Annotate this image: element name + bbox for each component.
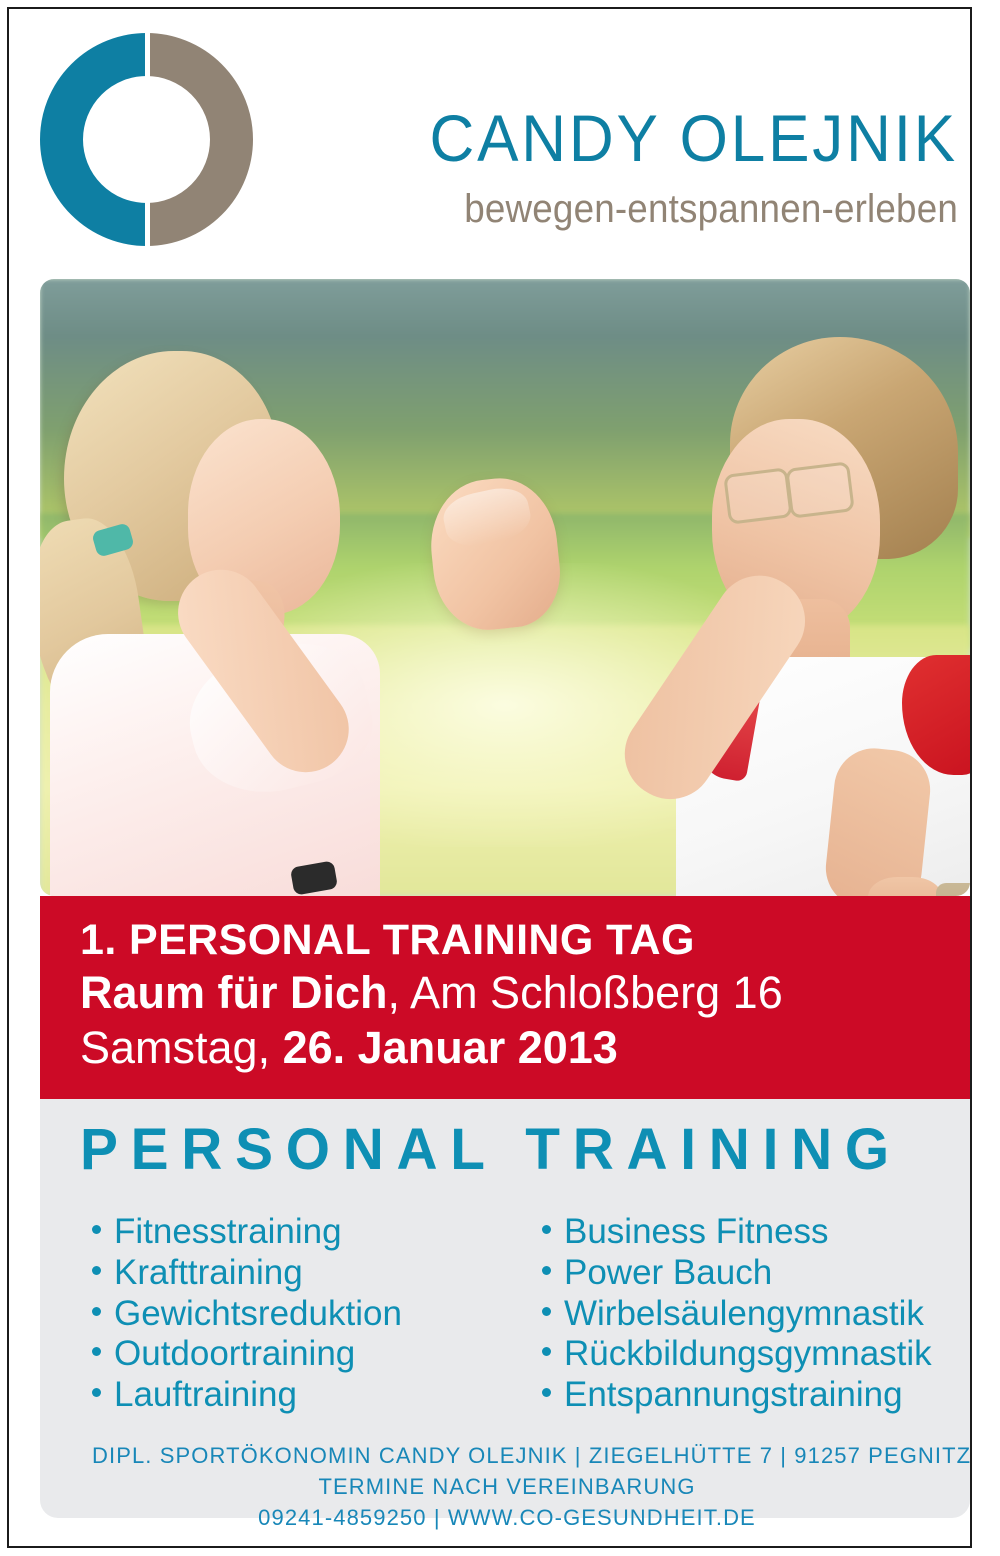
services-column-right: Business Fitness Power Bauch Wirbelsäule…	[542, 1213, 952, 1417]
list-item: Fitnesstraining	[92, 1213, 542, 1251]
service-label: Wirbelsäulengymnastik	[564, 1295, 924, 1333]
service-label: Lauftraining	[114, 1376, 297, 1414]
bullet-icon	[542, 1225, 551, 1234]
poster-header: CANDY OLEJNIK bewegen-entspannen-erleben	[9, 9, 970, 267]
bullet-icon	[92, 1307, 101, 1316]
event-weekday: Samstag,	[80, 1022, 283, 1073]
brand-name: CANDY OLEJNIK	[375, 105, 958, 171]
list-item: Rückbildungsgymnastik	[542, 1335, 952, 1373]
brand-tagline: bewegen-entspannen-erleben	[388, 189, 958, 229]
event-venue: Raum für Dich, Am Schloßberg 16	[80, 966, 970, 1021]
glasses-right-lens-icon	[785, 461, 855, 518]
service-label: Power Bauch	[564, 1254, 772, 1292]
list-item: Outdoortraining	[92, 1335, 542, 1373]
services-column-left: Fitnesstraining Krafttraining Gewichtsre…	[92, 1213, 542, 1417]
footer-address: DIPL. SPORTÖKONOMIN CANDY OLEJNIK | ZIEG…	[92, 1440, 922, 1471]
man-trousers	[936, 883, 970, 896]
service-label: Entspannungstraining	[564, 1376, 903, 1414]
service-label: Business Fitness	[564, 1213, 829, 1251]
bullet-icon	[542, 1307, 551, 1316]
brand-block: CANDY OLEJNIK bewegen-entspannen-erleben	[338, 105, 958, 229]
services-panel: PERSONAL TRAINING Fitnesstraining Kraftt…	[40, 1099, 970, 1518]
event-title: 1. PERSONAL TRAINING TAG	[80, 914, 970, 966]
service-label: Rückbildungsgymnastik	[564, 1335, 932, 1373]
service-label: Krafttraining	[114, 1254, 303, 1292]
bullet-icon	[542, 1347, 551, 1356]
event-date-value: 26. Januar 2013	[283, 1022, 618, 1073]
services-columns: Fitnesstraining Krafttraining Gewichtsre…	[92, 1213, 952, 1417]
poster: CANDY OLEJNIK bewegen-entspannen-erleben	[7, 7, 972, 1548]
footer-phone-website: 09241-4859250 | WWW.CO-GESUNDHEIT.DE	[92, 1502, 922, 1533]
event-venue-address: , Am Schloßberg 16	[388, 967, 783, 1018]
list-item: Business Fitness	[542, 1213, 952, 1251]
service-label: Outdoortraining	[114, 1335, 355, 1373]
list-item: Gewichtsreduktion	[92, 1295, 542, 1333]
bullet-icon	[542, 1266, 551, 1275]
hero-photo	[40, 279, 970, 896]
services-title: PERSONAL TRAINING	[80, 1121, 923, 1179]
footer-contact: DIPL. SPORTÖKONOMIN CANDY OLEJNIK | ZIEG…	[92, 1440, 922, 1534]
list-item: Krafttraining	[92, 1254, 542, 1292]
list-item: Entspannungstraining	[542, 1376, 952, 1414]
bullet-icon	[542, 1388, 551, 1397]
bullet-icon	[92, 1388, 101, 1397]
bullet-icon	[92, 1347, 101, 1356]
list-item: Power Bauch	[542, 1254, 952, 1292]
man-forearm	[822, 744, 934, 896]
logo-half-taupe	[147, 33, 254, 246]
bullet-icon	[92, 1225, 101, 1234]
list-item: Lauftraining	[92, 1376, 542, 1414]
list-item: Wirbelsäulengymnastik	[542, 1295, 952, 1333]
event-date: Samstag, 26. Januar 2013	[80, 1021, 970, 1076]
split-ring-logo-icon	[40, 33, 253, 246]
logo-center-gap	[145, 33, 150, 246]
event-venue-name: Raum für Dich	[80, 967, 388, 1018]
glasses-left-lens-icon	[723, 467, 793, 524]
logo-half-teal	[40, 33, 147, 246]
service-label: Fitnesstraining	[114, 1213, 342, 1251]
service-label: Gewichtsreduktion	[114, 1295, 402, 1333]
footer-appointments: TERMINE NACH VEREINBARUNG	[92, 1471, 922, 1502]
bullet-icon	[92, 1266, 101, 1275]
event-banner: 1. PERSONAL TRAINING TAG Raum für Dich, …	[40, 896, 970, 1099]
